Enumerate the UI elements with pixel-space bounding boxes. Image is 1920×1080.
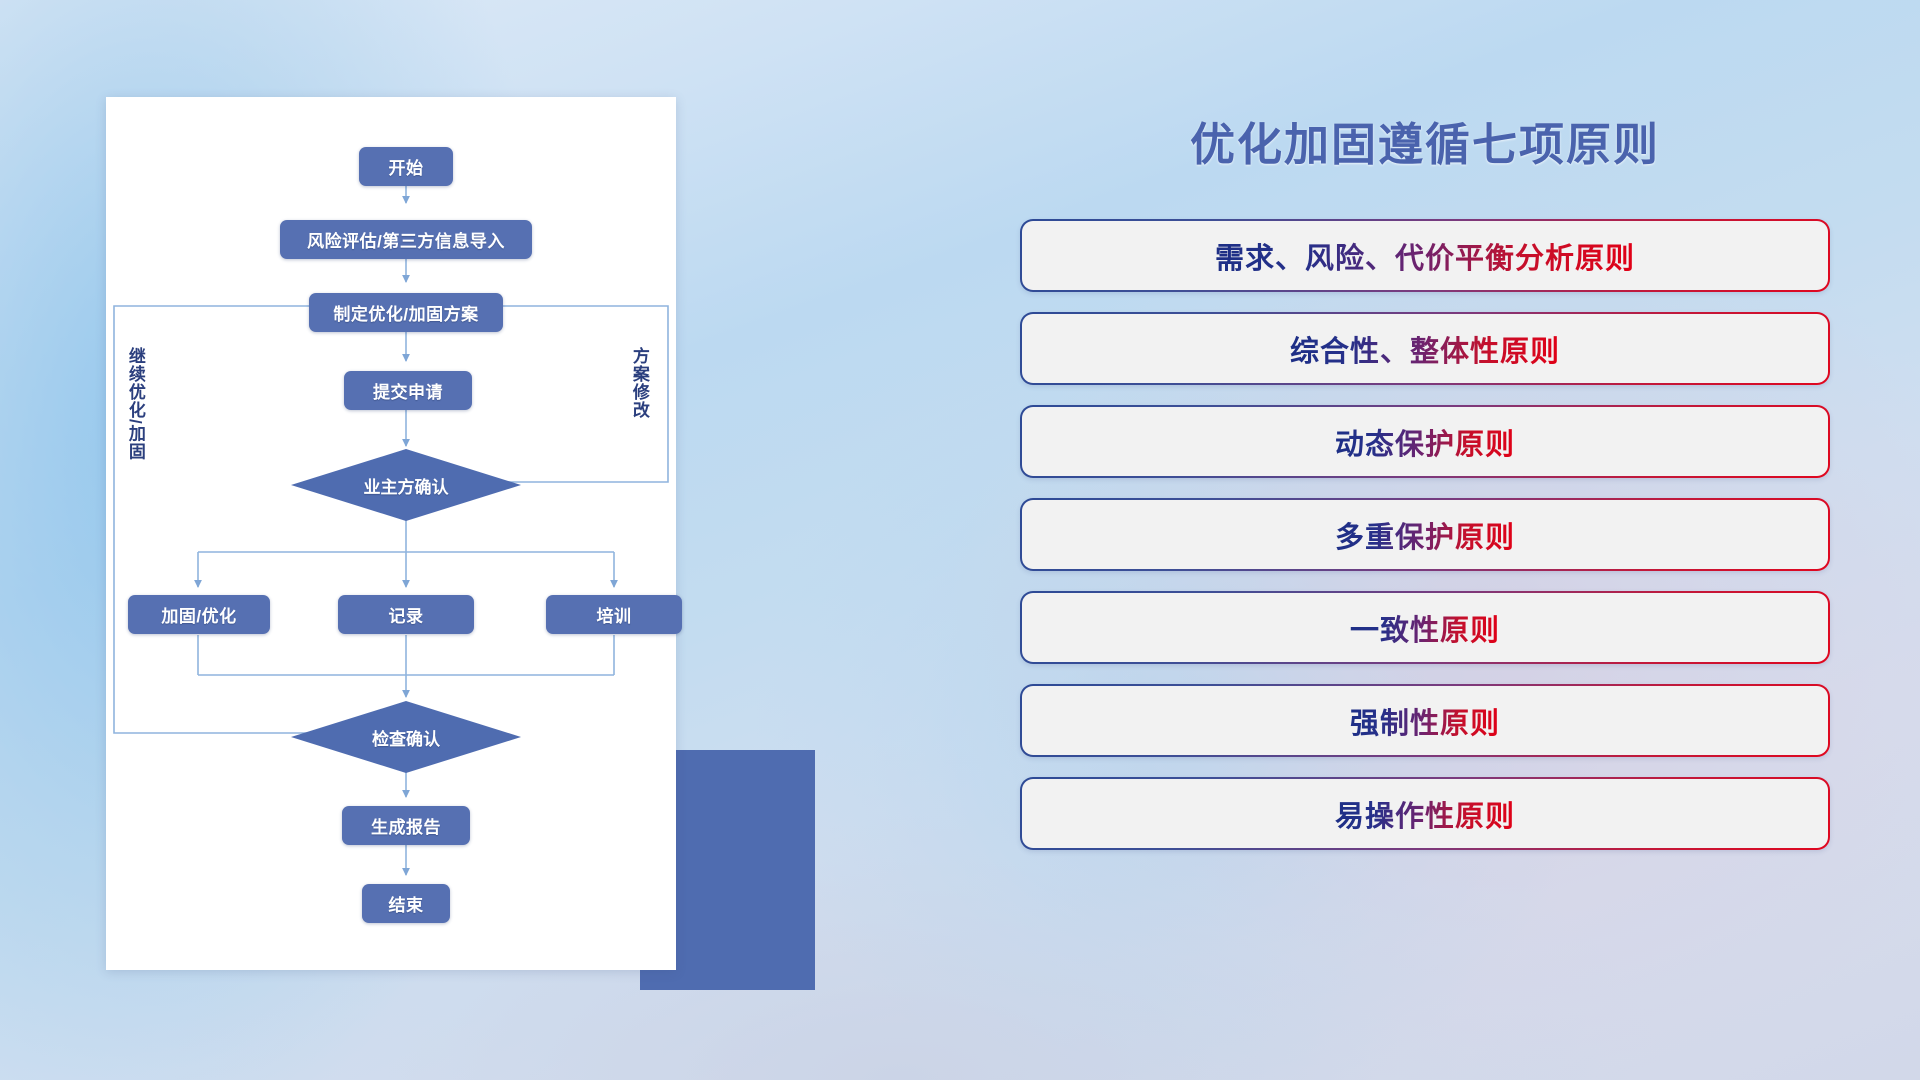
page-title: 优化加固遵循七项原则 — [1020, 108, 1830, 173]
flow-node-label: 风险评估/第三方信息导入 — [307, 227, 505, 252]
list-item-inner: 易操作性原则 — [1022, 779, 1828, 848]
list-item-label: 动态保护原则 — [1335, 421, 1515, 463]
flow-node-end[interactable]: 结束 — [362, 884, 450, 923]
flow-node-label: 检查确认 — [372, 725, 440, 750]
list-item-inner: 强制性原则 — [1022, 686, 1828, 755]
flow-node-start[interactable]: 开始 — [359, 147, 453, 186]
list-item-inner: 多重保护原则 — [1022, 500, 1828, 569]
list-item[interactable]: 一致性原则 — [1020, 591, 1830, 664]
list-item-label: 多重保护原则 — [1335, 514, 1515, 556]
list-item[interactable]: 多重保护原则 — [1020, 498, 1830, 571]
list-item-inner: 需求、风险、代价平衡分析原则 — [1022, 221, 1828, 290]
list-item-inner: 一致性原则 — [1022, 593, 1828, 662]
list-item[interactable]: 动态保护原则 — [1020, 405, 1830, 478]
flow-node-label: 开始 — [389, 154, 424, 179]
list-item-label: 需求、风险、代价平衡分析原则 — [1215, 235, 1635, 277]
flow-node-reinforce[interactable]: 加固/优化 — [128, 595, 270, 634]
list-item-inner: 动态保护原则 — [1022, 407, 1828, 476]
list-item[interactable]: 需求、风险、代价平衡分析原则 — [1020, 219, 1830, 292]
flow-node-label: 业主方确认 — [364, 473, 449, 498]
flow-node-label: 加固/优化 — [161, 602, 236, 627]
flow-node-submit-application[interactable]: 提交申请 — [344, 371, 472, 410]
list-item[interactable]: 易操作性原则 — [1020, 777, 1830, 850]
flow-node-generate-report[interactable]: 生成报告 — [342, 806, 470, 845]
list-item-label: 一致性原则 — [1350, 607, 1500, 649]
list-item-inner: 综合性、整体性原则 — [1022, 314, 1828, 383]
flowchart-card: 开始 风险评估/第三方信息导入 制定优化/加固方案 提交申请 业主方确认 加固/… — [106, 97, 676, 970]
flow-node-check-confirm[interactable]: 检查确认 — [291, 701, 521, 773]
flow-node-owner-confirm[interactable]: 业主方确认 — [291, 449, 521, 521]
edge-label-continue-optimize: 继续优化/加固 — [126, 347, 144, 461]
list-item-label: 强制性原则 — [1350, 700, 1500, 742]
slide-root: 开始 风险评估/第三方信息导入 制定优化/加固方案 提交申请 业主方确认 加固/… — [0, 0, 1920, 1080]
list-item-label: 易操作性原则 — [1335, 793, 1515, 835]
flow-node-label: 培训 — [597, 602, 632, 627]
flow-node-record[interactable]: 记录 — [338, 595, 474, 634]
flow-node-label: 生成报告 — [371, 813, 441, 838]
flow-node-label: 记录 — [389, 602, 424, 627]
flow-node-plan[interactable]: 制定优化/加固方案 — [309, 293, 503, 332]
flow-node-label: 结束 — [389, 891, 424, 916]
flow-node-risk-assessment[interactable]: 风险评估/第三方信息导入 — [280, 220, 532, 259]
edge-label-plan-revision: 方案修改 — [630, 347, 648, 419]
flow-node-label: 提交申请 — [373, 378, 443, 403]
list-item-label: 综合性、整体性原则 — [1290, 328, 1560, 370]
flow-node-training[interactable]: 培训 — [546, 595, 682, 634]
list-item[interactable]: 强制性原则 — [1020, 684, 1830, 757]
principles-list: 需求、风险、代价平衡分析原则 综合性、整体性原则 动态保护原则 多重保护原则 — [1020, 219, 1830, 850]
principles-panel: 优化加固遵循七项原则 需求、风险、代价平衡分析原则 综合性、整体性原则 动态保护… — [1020, 108, 1830, 998]
list-item[interactable]: 综合性、整体性原则 — [1020, 312, 1830, 385]
flow-node-label: 制定优化/加固方案 — [333, 300, 478, 325]
